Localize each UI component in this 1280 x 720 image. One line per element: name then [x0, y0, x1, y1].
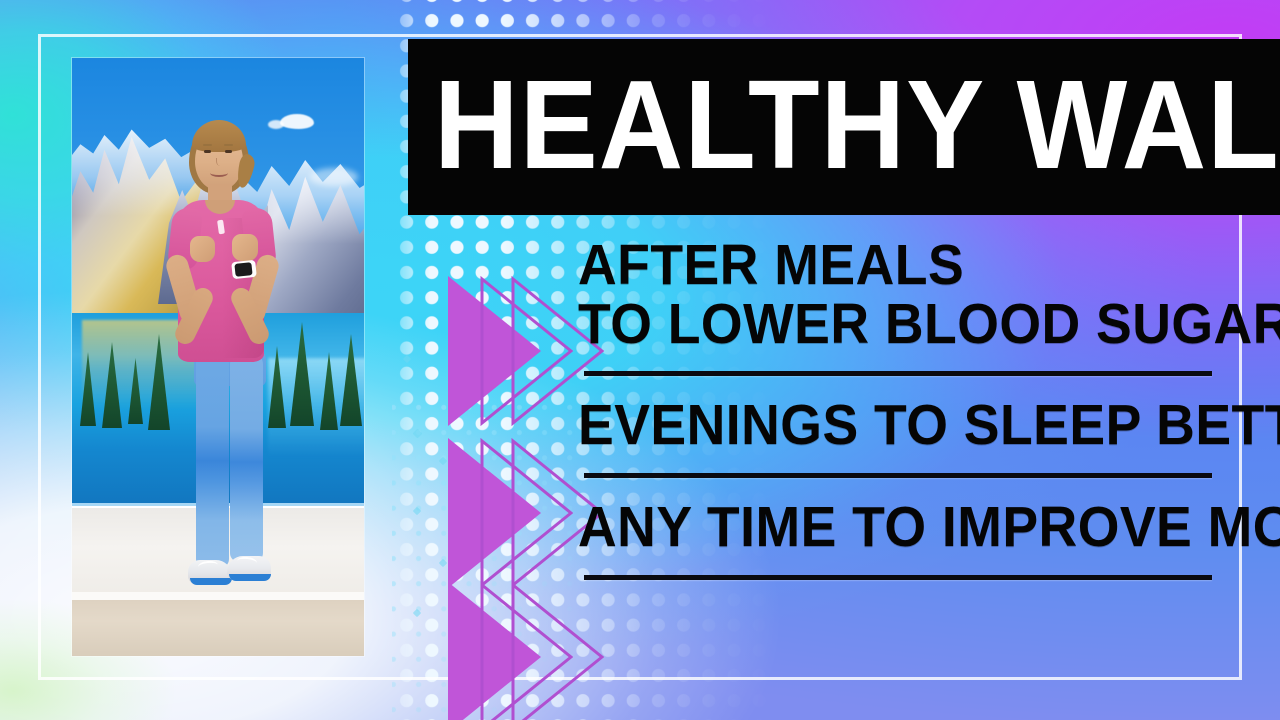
- bullet-divider-1: [584, 371, 1212, 376]
- play-triangle-outline-icon: [511, 582, 604, 720]
- person-shoe-left-laces: [198, 560, 219, 572]
- person-shoe-left-sole: [190, 578, 232, 585]
- person-eye-right: [225, 150, 232, 153]
- bullet-1-line-2: TO LOWER BLOOD SUGARS: [578, 295, 1187, 354]
- cloud-icon: [268, 120, 284, 129]
- person-eyebrow-right: [224, 144, 233, 146]
- person-smile: [210, 169, 228, 177]
- title-bar: HEALTHY WALK: [408, 39, 1280, 215]
- person-smartwatch-face: [234, 262, 252, 277]
- person-eye-left: [204, 150, 211, 153]
- hero-photo-inner: [72, 58, 364, 656]
- poster-title: HEALTHY WALK: [408, 71, 1280, 179]
- bullet-item-2: EVENINGS TO SLEEP BETTER: [578, 396, 1226, 455]
- person-leg-left: [196, 354, 229, 568]
- person-lower-body: [72, 354, 364, 654]
- bullet-divider-3: [584, 575, 1212, 580]
- bullet-item-1: AFTER MEALS TO LOWER BLOOD SUGARS: [578, 236, 1226, 353]
- person-nose: [216, 158, 223, 166]
- person-eyebrow-left: [203, 144, 212, 146]
- bullet-1-line-1: AFTER MEALS: [578, 236, 1187, 295]
- hero-photo: [72, 58, 364, 656]
- bullet-item-3: ANY TIME TO IMPROVE MOOD: [578, 498, 1226, 557]
- bullet-divider-2: [584, 473, 1212, 478]
- arrow-group-3: [448, 582, 594, 720]
- person-fist-right: [232, 234, 258, 261]
- person-leg-right: [230, 354, 263, 562]
- bullet-list: AFTER MEALS TO LOWER BLOOD SUGARS EVENIN…: [578, 236, 1226, 600]
- person-shoe-right-sole: [229, 574, 271, 581]
- bullet-2-line-1: EVENINGS TO SLEEP BETTER: [578, 396, 1187, 455]
- arrow-group-1: [448, 276, 594, 426]
- person-fist-left: [190, 236, 215, 262]
- bullet-3-line-1: ANY TIME TO IMPROVE MOOD: [578, 498, 1187, 557]
- poster-canvas: HEALTHY WALK AFTER MEALS TO LOW: [0, 0, 1280, 720]
- arrow-group-2: [448, 438, 594, 588]
- cloud-icon: [280, 114, 314, 129]
